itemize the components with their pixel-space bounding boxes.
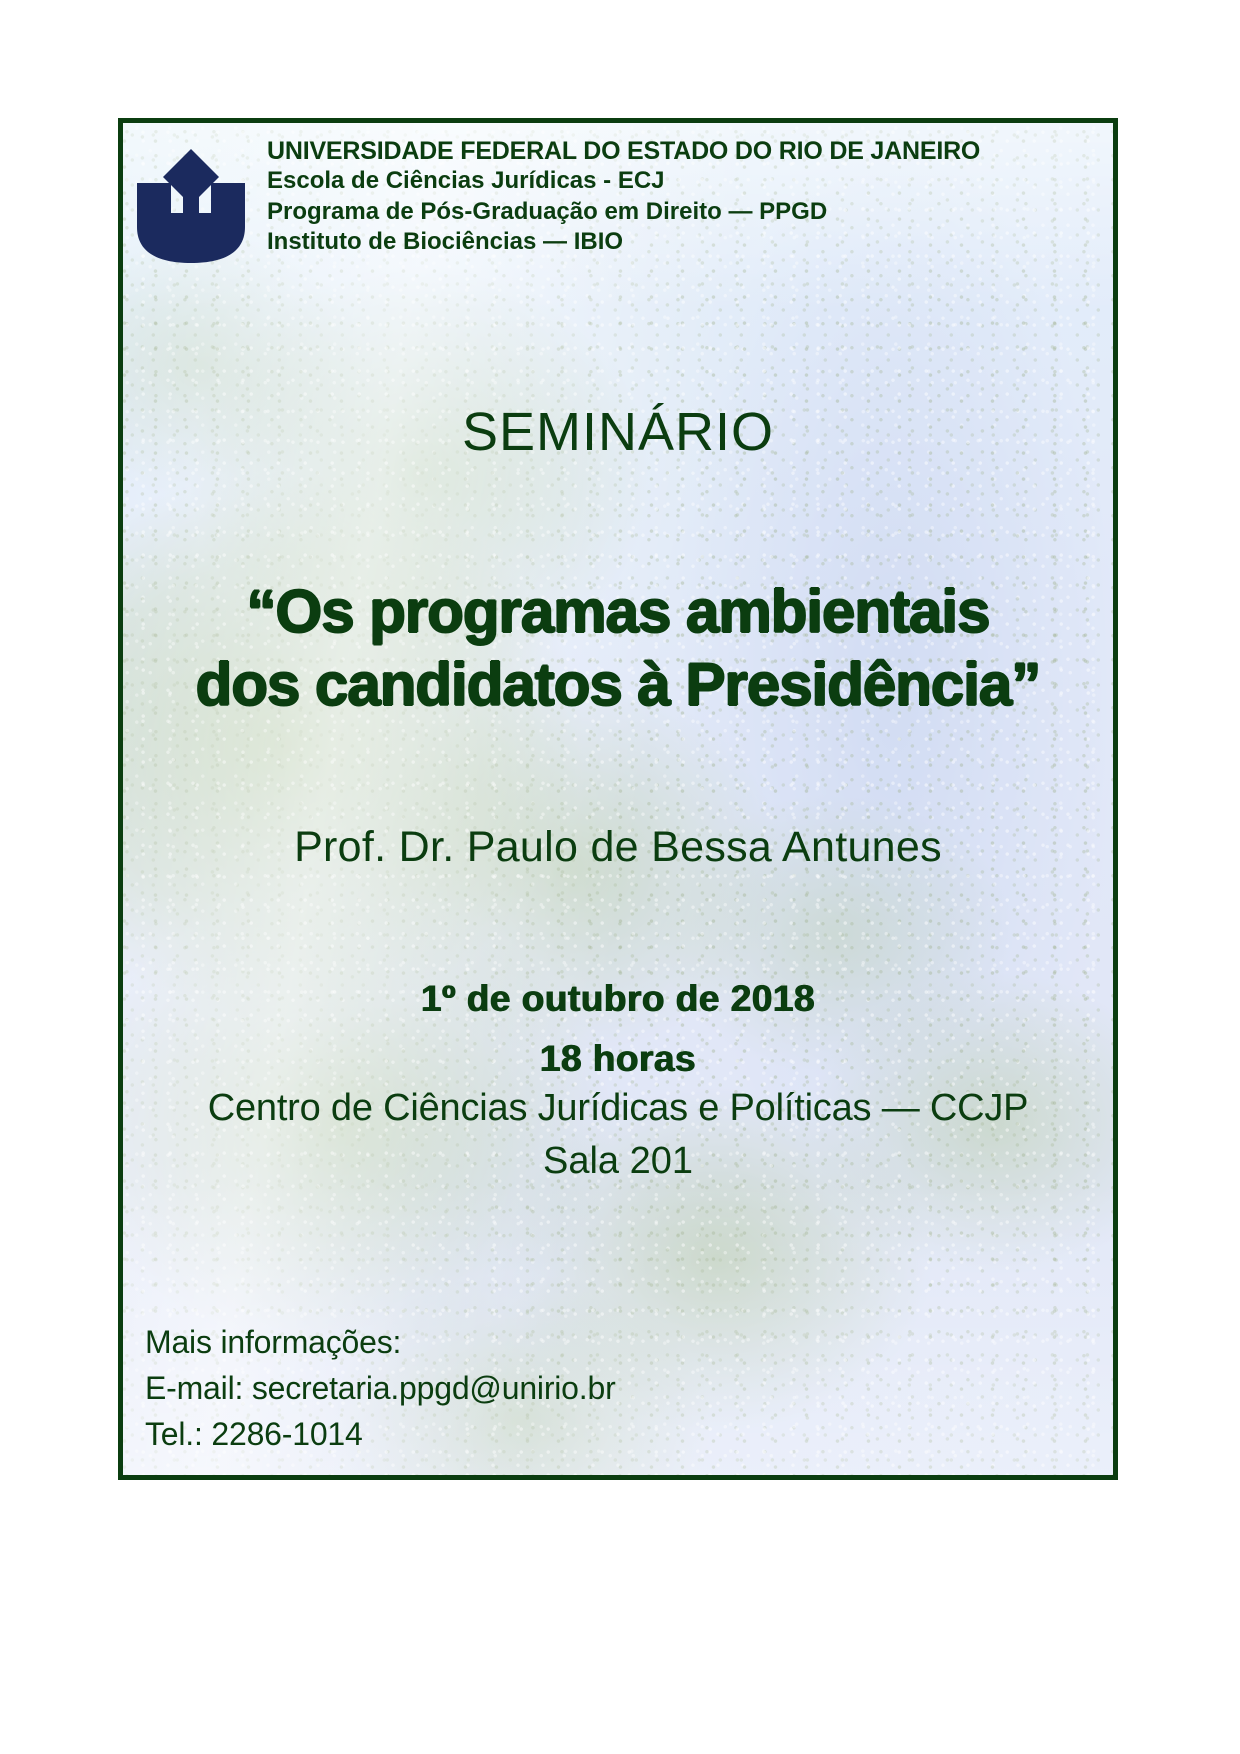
poster-content: UNIVERSIDADE FEDERAL DO ESTADO DO RIO DE…: [123, 123, 1113, 1475]
speaker-name: Prof. Dr. Paulo de Bessa Antunes: [123, 823, 1113, 872]
contact-email[interactable]: E-mail: secretaria.ppgd@unirio.br: [145, 1365, 616, 1411]
school-line: Escola de Ciências Jurídicas - ECJ: [267, 166, 980, 197]
event-title-line-2: dos candidatos à Presidência”: [131, 648, 1105, 721]
organization-text-block: UNIVERSIDADE FEDERAL DO ESTADO DO RIO DE…: [267, 137, 980, 258]
event-title-line-1: “Os programas ambientais: [131, 575, 1105, 648]
poster-header: UNIVERSIDADE FEDERAL DO ESTADO DO RIO DE…: [123, 129, 1113, 267]
event-date: 1º de outubro de 2018: [123, 978, 1113, 1020]
event-venue: Centro de Ciências Jurídicas e Políticas…: [123, 1087, 1113, 1130]
contact-block: Mais informações: E-mail: secretaria.ppg…: [145, 1319, 616, 1457]
university-name: UNIVERSIDADE FEDERAL DO ESTADO DO RIO DE…: [267, 137, 980, 166]
event-room: Sala 201: [123, 1140, 1113, 1183]
unirio-logo-icon: [131, 135, 251, 267]
institute-line: Instituto de Biociências — IBIO: [267, 227, 980, 258]
contact-heading: Mais informações:: [145, 1319, 616, 1365]
poster-frame: UNIVERSIDADE FEDERAL DO ESTADO DO RIO DE…: [118, 118, 1118, 1480]
event-time: 18 horas: [123, 1038, 1113, 1080]
event-title: “Os programas ambientais dos candidatos …: [131, 575, 1105, 721]
event-location-block: Centro de Ciências Jurídicas e Políticas…: [123, 1087, 1113, 1183]
contact-phone: Tel.: 2286-1014: [145, 1411, 616, 1457]
event-kind-heading: SEMINÁRIO: [123, 401, 1113, 463]
program-line: Programa de Pós-Graduação em Direito — P…: [267, 197, 980, 228]
event-datetime-block: 1º de outubro de 2018 18 horas: [123, 978, 1113, 1080]
